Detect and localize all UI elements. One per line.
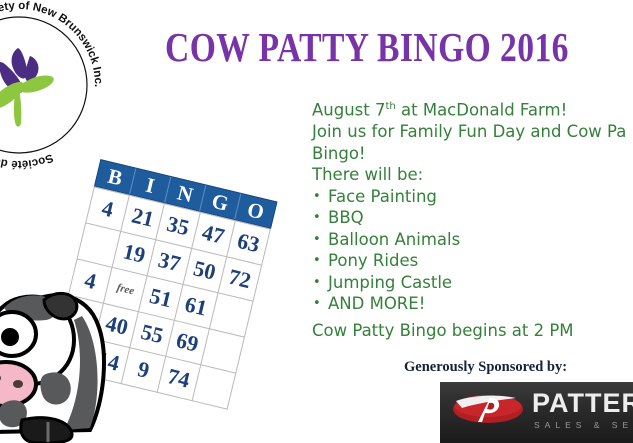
list-item: Face Painting: [312, 186, 633, 208]
cow-icon: [0, 224, 116, 443]
ordinal-suffix: th: [386, 101, 396, 112]
activities-list: Face Painting BBQ Balloon Animals Pony R…: [312, 186, 633, 315]
sponsor-tagline: SALES & SERV: [534, 420, 633, 430]
sponsor-brand-name: PATTERS: [532, 388, 633, 419]
sponsor-logo: PATTERS SALES & SERV: [440, 382, 633, 443]
event-location: at MacDonald Farm!: [396, 101, 567, 120]
event-date-line: August 7th at MacDonald Farm!: [312, 96, 633, 121]
sponsor-label: Generously Sponsored by:: [404, 359, 567, 376]
organization-logo-seal: iety of New Brunswick Inc. Société de Sc…: [0, 0, 112, 178]
activities-intro: There will be:: [312, 164, 633, 186]
event-details: August 7th at MacDonald Farm! Join us fo…: [312, 96, 633, 315]
list-item: BBQ: [312, 207, 633, 229]
svg-text:iety of New Brunswick Inc.: iety of New Brunswick Inc.: [0, 0, 104, 87]
page-title: COW PATTY BINGO 2016: [165, 27, 460, 68]
event-date-prefix: August 7: [312, 101, 386, 120]
list-item: Balloon Animals: [312, 229, 633, 251]
invite-line-2: Bingo!: [312, 143, 633, 165]
patterson-p-mark-icon: [452, 392, 524, 426]
list-item: Jumping Castle: [312, 272, 633, 294]
iris-flower-icon: [0, 48, 54, 127]
bingo-cell: [192, 365, 236, 409]
list-item: Pony Rides: [312, 250, 633, 272]
invite-line-1: Join us for Family Fun Day and Cow Pa: [312, 121, 633, 143]
event-start-time: Cow Patty Bingo begins at 2 PM: [312, 320, 574, 341]
cow-patty-bingo-flyer: iety of New Brunswick Inc. Société de Sc…: [0, 0, 633, 443]
list-item: AND MORE!: [312, 293, 633, 315]
